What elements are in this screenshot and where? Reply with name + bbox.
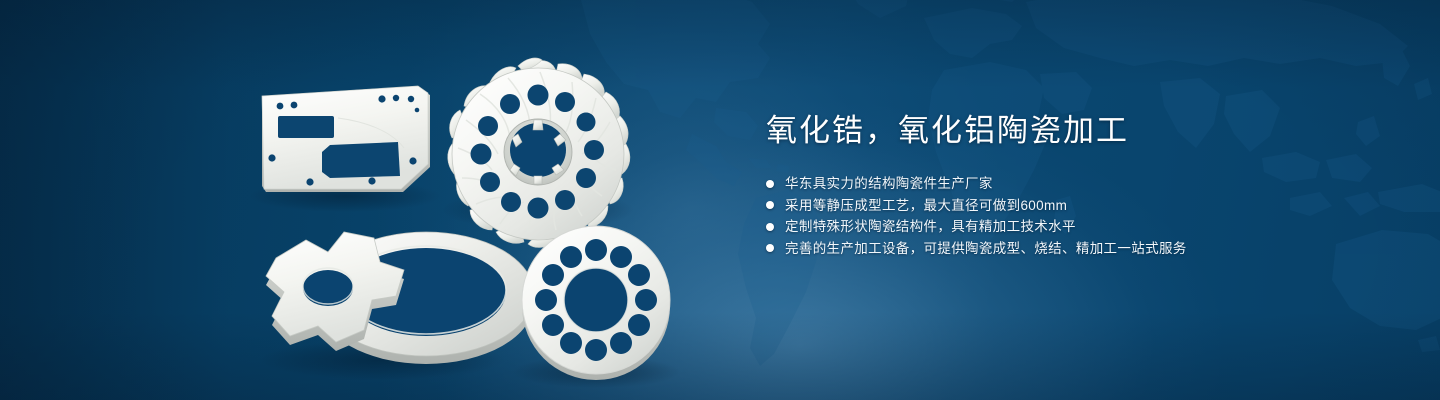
bullet-text: 完善的生产加工设备，可提供陶瓷成型、烧结、精加工一站式服务	[785, 238, 1187, 260]
list-item: 定制特殊形状陶瓷结构件，具有精加工技术水平	[766, 216, 1366, 238]
list-item: 完善的生产加工设备，可提供陶瓷成型、烧结、精加工一站式服务	[766, 238, 1366, 260]
bullet-dot-icon	[766, 201, 774, 209]
bullet-text: 定制特殊形状陶瓷结构件，具有精加工技术水平	[785, 216, 1076, 238]
bullet-text: 采用等静压成型工艺，最大直径可做到600mm	[785, 195, 1067, 217]
bullet-dot-icon	[766, 180, 774, 188]
bullet-dot-icon	[766, 244, 774, 252]
ceramic-perforated-disc	[522, 226, 670, 380]
page-title: 氧化锆，氧化铝陶瓷加工	[766, 110, 1366, 152]
ceramic-impeller-disc	[448, 58, 630, 247]
list-item: 华东具实力的结构陶瓷件生产厂家	[766, 173, 1366, 195]
bullet-dot-icon	[766, 223, 774, 231]
ceramic-products-photo-collage	[0, 0, 720, 400]
feature-bullet-list: 华东具实力的结构陶瓷件生产厂家 采用等静压成型工艺，最大直径可做到600mm 定…	[766, 173, 1366, 259]
banner-copy-block: 氧化锆，氧化铝陶瓷加工 华东具实力的结构陶瓷件生产厂家 采用等静压成型工艺，最大…	[766, 110, 1366, 259]
ceramic-products-hero-banner: 氧化锆，氧化铝陶瓷加工 华东具实力的结构陶瓷件生产厂家 采用等静压成型工艺，最大…	[0, 0, 1440, 400]
list-item: 采用等静压成型工艺，最大直径可做到600mm	[766, 195, 1366, 217]
ceramic-machined-plate	[262, 86, 430, 192]
bullet-text: 华东具实力的结构陶瓷件生产厂家	[785, 173, 993, 195]
ceramic-cross-plate-and-ring	[266, 232, 534, 364]
